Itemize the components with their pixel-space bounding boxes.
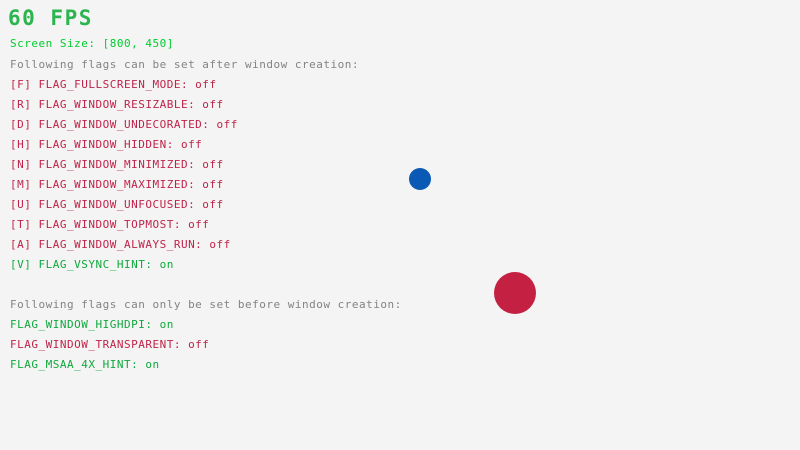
red-circle	[494, 272, 536, 314]
flag-row-vsync-hint[interactable]: [V] FLAG_VSYNC_HINT: on	[10, 259, 174, 270]
fps-counter: 60 FPS	[8, 8, 93, 29]
flag-row-window-hidden[interactable]: [H] FLAG_WINDOW_HIDDEN: off	[10, 139, 202, 150]
flag-row-window-topmost[interactable]: [T] FLAG_WINDOW_TOPMOST: off	[10, 219, 209, 230]
flag-row-window-undecorated[interactable]: [D] FLAG_WINDOW_UNDECORATED: off	[10, 119, 238, 130]
before-creation-header: Following flags can only be set before w…	[10, 299, 402, 310]
flag-row-window-minimized[interactable]: [N] FLAG_WINDOW_MINIMIZED: off	[10, 159, 224, 170]
flag-row-window-always-run[interactable]: [A] FLAG_WINDOW_ALWAYS_RUN: off	[10, 239, 231, 250]
raylib-window: 60 FPS Screen Size: [800, 450] Following…	[0, 0, 800, 450]
after-creation-header: Following flags can be set after window …	[10, 59, 359, 70]
flag-row-window-transparent: FLAG_WINDOW_TRANSPARENT: off	[10, 339, 209, 350]
flag-row-window-maximized[interactable]: [M] FLAG_WINDOW_MAXIMIZED: off	[10, 179, 224, 190]
flag-row-fullscreen-mode[interactable]: [F] FLAG_FULLSCREEN_MODE: off	[10, 79, 217, 90]
flag-row-window-unfocused[interactable]: [U] FLAG_WINDOW_UNFOCUSED: off	[10, 199, 224, 210]
blue-circle	[409, 168, 431, 190]
flag-row-msaa-4x-hint: FLAG_MSAA_4X_HINT: on	[10, 359, 160, 370]
flag-row-window-highdpi: FLAG_WINDOW_HIGHDPI: on	[10, 319, 174, 330]
screen-size-label: Screen Size: [800, 450]	[10, 38, 174, 49]
flag-row-window-resizable[interactable]: [R] FLAG_WINDOW_RESIZABLE: off	[10, 99, 224, 110]
